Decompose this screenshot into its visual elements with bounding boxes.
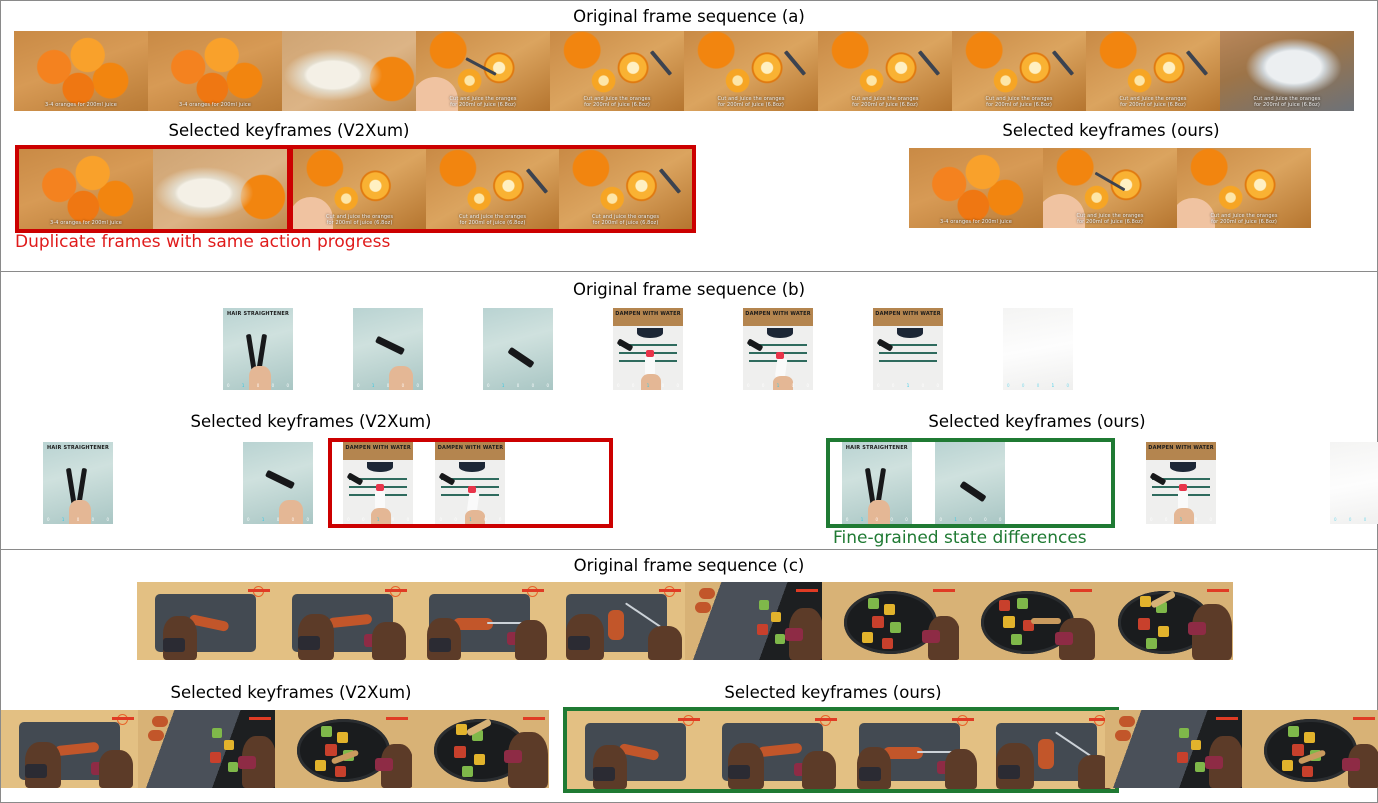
frame-original: DAMPEN WITH WATER 00100	[613, 308, 683, 390]
panel-b-original-title: Original frame sequence (b)	[1, 282, 1377, 299]
panel-c-original-title: Original frame sequence (c)	[1, 558, 1377, 575]
frame-original: Cut and juice the oranges for 200ml of j…	[416, 31, 550, 111]
panel-a-annotation: Duplicate frames with same action progre…	[15, 234, 390, 251]
frame-caption: Cut and juice the oranges for 200ml of j…	[559, 214, 692, 226]
frame-keyframe	[275, 710, 412, 788]
frame-keyframe	[841, 711, 978, 789]
figure-root: Original frame sequence (a) 3-4 oranges …	[0, 0, 1378, 803]
frame-hud: 01000	[487, 383, 549, 388]
frame-label: DAMPEN WITH WATER	[873, 311, 943, 317]
scene-oranges-on-board	[14, 31, 148, 111]
frame-caption: Cut and juice the oranges for 200ml of j…	[1220, 96, 1354, 108]
brand-bar-icon	[522, 589, 544, 592]
frame-original: Cut and juice the oranges for 200ml of j…	[550, 31, 684, 111]
frame-caption: 3-4 oranges for 200ml juice	[909, 219, 1043, 225]
frame-caption: 3-4 oranges for 200ml juice	[14, 102, 148, 108]
frame-original: Cut and juice the oranges for 200ml of j…	[1086, 31, 1220, 111]
frame-original: HAIR STRAIGHTENER 01000	[223, 308, 293, 390]
frame-original	[1096, 582, 1233, 660]
frame-keyframe	[567, 711, 704, 789]
brand-bar-icon	[385, 589, 407, 592]
frame-caption: Cut and juice the oranges for 200ml of j…	[293, 214, 426, 226]
frame-original: 01000	[483, 308, 553, 390]
frame-original: 3-4 oranges for 200ml juice	[148, 31, 282, 111]
frame-caption: Cut and juice the oranges for 200ml of j…	[818, 96, 952, 108]
brand-bar-icon	[659, 589, 681, 592]
frame-hud: 01000	[939, 517, 1001, 522]
brand-bar-icon	[248, 589, 270, 592]
frame-original: Cut and juice the oranges for 200ml of j…	[684, 31, 818, 111]
frame-hud: 01000	[846, 517, 908, 522]
scene-white-shirt-faded	[1003, 308, 1073, 390]
frame-keyframe: HAIR STRAIGHTENER 01000	[842, 442, 912, 524]
frame-keyframe: DAMPEN WITH WATER 00100	[1146, 442, 1216, 524]
frame-hud: 00100	[439, 517, 501, 522]
brand-bar-icon	[678, 718, 700, 721]
panel-c-v2xum-title: Selected keyframes (V2Xum)	[11, 685, 571, 702]
frame-caption: 3-4 oranges for 200ml juice	[148, 102, 282, 108]
brand-bar-icon	[249, 717, 271, 720]
brand-bar-icon	[933, 589, 955, 592]
frame-keyframe: Cut and juice the oranges for 200ml of j…	[1177, 148, 1311, 228]
frame-keyframe	[412, 710, 549, 788]
scene-white-shirt-faded	[1330, 442, 1378, 524]
frame-original: 00010	[1003, 308, 1073, 390]
frame-keyframe: Cut and juice the oranges for 200ml of j…	[426, 149, 559, 229]
frame-original: DAMPEN WITH WATER 00100	[873, 308, 943, 390]
frame-keyframe: DAMPEN WITH WATER 00100	[343, 442, 413, 524]
frame-caption: Cut and juice the oranges for 200ml of j…	[952, 96, 1086, 108]
panel-a-original-title: Original frame sequence (a)	[1, 9, 1377, 26]
panel-c-ours-strip-tail	[1105, 710, 1378, 788]
frame-keyframe: Cut and juice the oranges for 200ml of j…	[559, 149, 692, 229]
frame-original	[548, 582, 685, 660]
scene-glass-pouring	[282, 31, 416, 111]
brand-bar-icon	[796, 589, 818, 592]
frame-hud: 00100	[877, 383, 939, 388]
frame-original: DAMPEN WITH WATER 00100	[743, 308, 813, 390]
panel-b-original-strip: HAIR STRAIGHTENER 01000 01000 01000	[223, 308, 1073, 390]
brand-bar-icon	[1070, 589, 1092, 592]
frame-hud: 01000	[47, 517, 109, 522]
frame-label: DAMPEN WITH WATER	[343, 445, 413, 451]
frame-original	[137, 582, 274, 660]
frame-caption: Cut and juice the oranges for 200ml of j…	[550, 96, 684, 108]
frame-label: DAMPEN WITH WATER	[613, 311, 683, 317]
frame-original: Cut and juice the oranges for 200ml of j…	[818, 31, 952, 111]
frame-hud: 01000	[227, 383, 289, 388]
frame-keyframe: 3-4 oranges for 200ml juice	[909, 148, 1043, 228]
panel-b-v2xum-strip: HAIR STRAIGHTENER 01000 01000	[43, 442, 313, 524]
scene-oranges-on-board	[19, 149, 153, 229]
frame-keyframe	[1242, 710, 1378, 788]
frame-hud: 00100	[347, 517, 409, 522]
frame-caption: Cut and juice the oranges for 200ml of j…	[1043, 213, 1177, 225]
frame-keyframe	[1105, 710, 1242, 788]
frame-label: DAMPEN WITH WATER	[435, 445, 505, 451]
frame-hud: 00100	[1150, 517, 1212, 522]
frame-keyframe: 3-4 oranges for 200ml juice	[19, 149, 153, 229]
panel-b-ours-highlight-box: HAIR STRAIGHTENER 01000 01000	[826, 438, 1115, 528]
frame-original: 3-4 oranges for 200ml juice	[14, 31, 148, 111]
frame-label: DAMPEN WITH WATER	[1146, 445, 1216, 451]
frame-hud: 00010	[1334, 517, 1378, 522]
brand-bar-icon	[1207, 589, 1229, 592]
frame-hud: 01000	[357, 383, 419, 388]
brand-bar-icon	[112, 717, 134, 720]
frame-keyframe	[153, 149, 287, 229]
brand-bar-icon	[523, 717, 545, 720]
panel-c-v2xum-strip	[1, 710, 549, 788]
frame-keyframe	[978, 711, 1115, 789]
brand-bar-icon	[1353, 717, 1375, 720]
frame-original: Cut and juice the oranges for 200ml of j…	[952, 31, 1086, 111]
panel-b-v2xum-title: Selected keyframes (V2Xum)	[11, 414, 611, 431]
brand-bar-icon	[1216, 717, 1238, 720]
panel-a-v2xum-title: Selected keyframes (V2Xum)	[15, 123, 563, 140]
frame-keyframe	[704, 711, 841, 789]
panel-b-ours-strip: DAMPEN WITH WATER 00100 00010	[1146, 442, 1378, 524]
brand-bar-icon	[952, 718, 974, 721]
frame-keyframe: DAMPEN WITH WATER 00100	[435, 442, 505, 524]
scene-white-shirt-plain	[873, 308, 943, 390]
panel-a-ours-strip: 3-4 oranges for 200ml juice Cut and juic…	[909, 148, 1311, 228]
panel-c-original-strip	[137, 582, 1233, 660]
brand-bar-icon	[386, 717, 408, 720]
panel-c-ours-title: Selected keyframes (ours)	[563, 685, 1103, 702]
frame-label: HAIR STRAIGHTENER	[842, 445, 912, 451]
frame-hud: 01000	[247, 517, 309, 522]
frame-keyframe: Cut and juice the oranges for 200ml of j…	[1043, 148, 1177, 228]
frame-label: HAIR STRAIGHTENER	[43, 445, 113, 451]
frame-original: Cut and juice the oranges for 200ml of j…	[1220, 31, 1354, 111]
panel-a: Original frame sequence (a) 3-4 oranges …	[1, 1, 1377, 271]
frame-caption: Cut and juice the oranges for 200ml of j…	[416, 96, 550, 108]
frame-label: DAMPEN WITH WATER	[743, 311, 813, 317]
panel-b-annotation: Fine-grained state differences	[833, 530, 1087, 547]
frame-caption: Cut and juice the oranges for 200ml of j…	[426, 214, 559, 226]
frame-original	[274, 582, 411, 660]
frame-keyframe: HAIR STRAIGHTENER 01000	[43, 442, 113, 524]
frame-original	[411, 582, 548, 660]
frame-keyframe: 00010	[1330, 442, 1378, 524]
frame-keyframe	[138, 710, 275, 788]
frame-keyframe: 01000	[935, 442, 1005, 524]
frame-hud: 00010	[1007, 383, 1069, 388]
scene-glass-pouring	[153, 149, 287, 229]
panel-b-v2xum-highlight-box: DAMPEN WITH WATER 00100 DAMPEN WITH WATE…	[328, 438, 613, 528]
panel-a-v2xum-highlight-box-2: Cut and juice the oranges for 200ml of j…	[289, 145, 696, 233]
frame-original	[959, 582, 1096, 660]
frame-hud: 00100	[617, 383, 679, 388]
frame-label: HAIR STRAIGHTENER	[223, 311, 293, 317]
brand-bar-icon	[815, 718, 837, 721]
frame-keyframe: 01000	[243, 442, 313, 524]
panel-a-ours-title: Selected keyframes (ours)	[909, 123, 1313, 140]
frame-caption: 3-4 oranges for 200ml juice	[19, 220, 153, 226]
scene-blue-shirt-straightener	[483, 308, 553, 390]
frame-original	[685, 582, 822, 660]
panel-a-original-strip: 3-4 oranges for 200ml juice 3-4 oranges …	[14, 31, 1354, 111]
scene-oranges-on-board	[909, 148, 1043, 228]
panel-c-ours-highlight-box	[563, 707, 1119, 793]
frame-caption: Cut and juice the oranges for 200ml of j…	[1086, 96, 1220, 108]
scene-oranges-on-board	[148, 31, 282, 111]
frame-caption: Cut and juice the oranges for 200ml of j…	[1177, 213, 1311, 225]
scene-blue-shirt-straightener	[935, 442, 1005, 524]
frame-original	[822, 582, 959, 660]
frame-original	[282, 31, 416, 111]
panel-b-ours-title: Selected keyframes (ours)	[827, 414, 1247, 431]
frame-hud: 00100	[747, 383, 809, 388]
frame-caption: Cut and juice the oranges for 200ml of j…	[684, 96, 818, 108]
frame-original: 01000	[353, 308, 423, 390]
panel-c: Original frame sequence (c)	[1, 549, 1377, 802]
panel-a-v2xum-highlight-box-1: 3-4 oranges for 200ml juice	[15, 145, 291, 233]
panel-b: Original frame sequence (b) HAIR STRAIGH…	[1, 271, 1377, 549]
frame-keyframe	[1, 710, 138, 788]
frame-keyframe: Cut and juice the oranges for 200ml of j…	[293, 149, 426, 229]
